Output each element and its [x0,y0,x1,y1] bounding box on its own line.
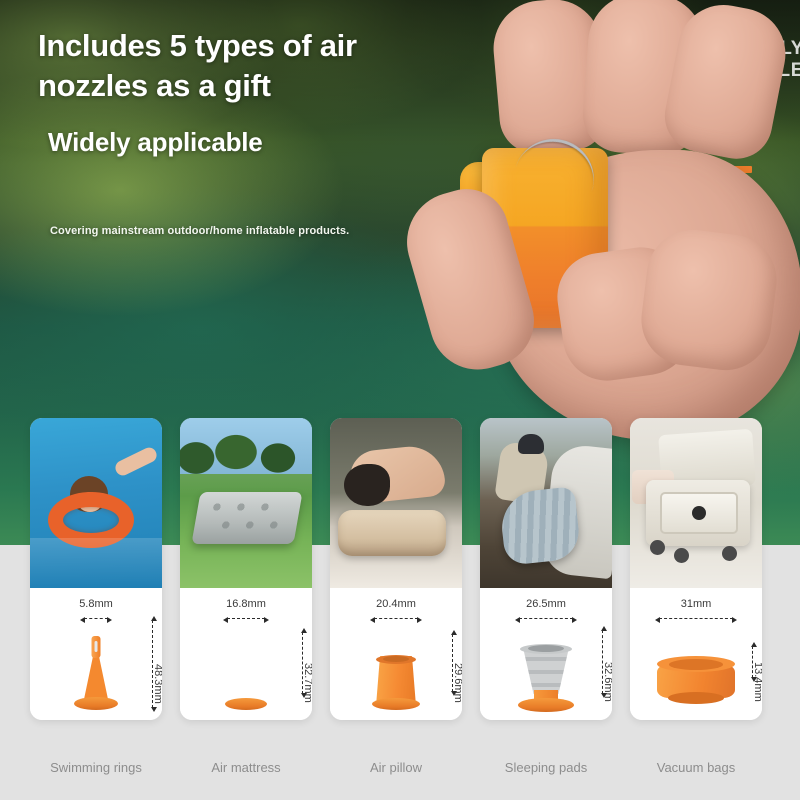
suitcase-wheel-icon [722,546,737,561]
footer-label-air-pillow: Air pillow [321,760,471,775]
nozzle-base [372,698,420,710]
nozzle-opening [669,659,723,670]
nozzle-base [518,698,574,712]
footer-label-sleeping-pads: Sleeping pads [471,760,621,775]
height-dimension-label: 32.6mm [602,662,612,702]
nozzle-card-air-pillow[interactable]: 20.4mm 29.6mm [330,418,462,720]
height-dimension-label: 32.7mm [302,663,312,703]
width-dimension-label: 20.4mm [330,598,462,610]
card-spec: 5.8mm 48.3mm [30,588,162,720]
card-spec: 31mm 13.4mm [630,588,762,720]
nozzle-illustration [480,622,612,718]
width-dimension-label: 26.5mm [480,598,612,610]
nozzle-slot [95,641,98,652]
product-infographic: Includes 5 types of air nozzles as a gif… [0,0,800,800]
nozzle-illustration [30,622,162,718]
bag-valve-icon [692,506,706,520]
nozzle-opening [528,645,564,652]
footer-label-air-mattress: Air mattress [171,760,321,775]
width-dimension-line [374,618,418,619]
mattress-scene-image [180,418,312,588]
footer-label-vacuum-bags: Vacuum bags [621,760,771,775]
width-dimension-label: 31mm [630,598,762,610]
nozzle-illustration [630,622,762,718]
trees-icon [180,418,312,474]
height-dimension-label: 29.6mm [452,663,462,703]
hair-icon [344,464,390,506]
card-photo [180,418,312,588]
width-dimension-label: 16.8mm [180,598,312,610]
height-dimension-label: 13.4mm [752,662,762,702]
card-spec: 26.5mm 32.6mm [480,588,612,720]
card-photo [30,418,162,588]
nozzle-base [74,697,118,710]
nozzle-base [225,698,267,710]
nozzle-opening [383,656,409,662]
suitcase-wheel-icon [650,540,665,555]
air-mattress-icon [191,492,302,544]
card-photo [330,418,462,588]
height-dimension-label: 48.3mm [152,664,162,704]
card-spec: 16.8mm 32.7mm [180,588,312,720]
card-spec: 20.4mm 29.6mm [330,588,462,720]
sleeping-pad-scene-image [480,418,612,588]
nozzle-card-swimming-rings[interactable]: 5.8mm 48.3mm [30,418,162,720]
nozzle-card-list: 5.8mm 48.3mm [0,0,800,800]
water-shine [30,538,162,588]
mattress-tufts [197,497,296,539]
card-photo [480,418,612,588]
pillow-scene-image [330,418,462,588]
width-dimension-line [519,618,573,619]
suitcase-wheel-icon [674,548,689,563]
pool-scene-image [30,418,162,588]
nozzle-card-air-mattress[interactable]: 16.8mm 32.7mm [180,418,312,720]
nozzle-base [668,692,724,704]
vacuum-bag-scene-image [630,418,762,588]
width-dimension-line [659,618,733,619]
nozzle-illustration [330,622,462,718]
nozzle-card-sleeping-pads[interactable]: 26.5mm 32.6mm [480,418,612,720]
width-dimension-label: 5.8mm [30,598,162,610]
width-dimension-line [84,618,108,619]
nozzle-card-vacuum-bags[interactable]: 31mm 13.4mm [630,418,762,720]
width-dimension-line [227,618,265,619]
footer-label-swimming-rings: Swimming rings [21,760,171,775]
nozzle-illustration [180,622,312,718]
nozzle-bellows-cup [520,648,572,694]
arm-icon [113,445,159,478]
hat-icon [518,434,544,454]
air-pillow-icon [338,510,446,556]
footer-label-row: Swimming rings Air mattress Air pillow S… [0,740,800,800]
card-photo [630,418,762,588]
